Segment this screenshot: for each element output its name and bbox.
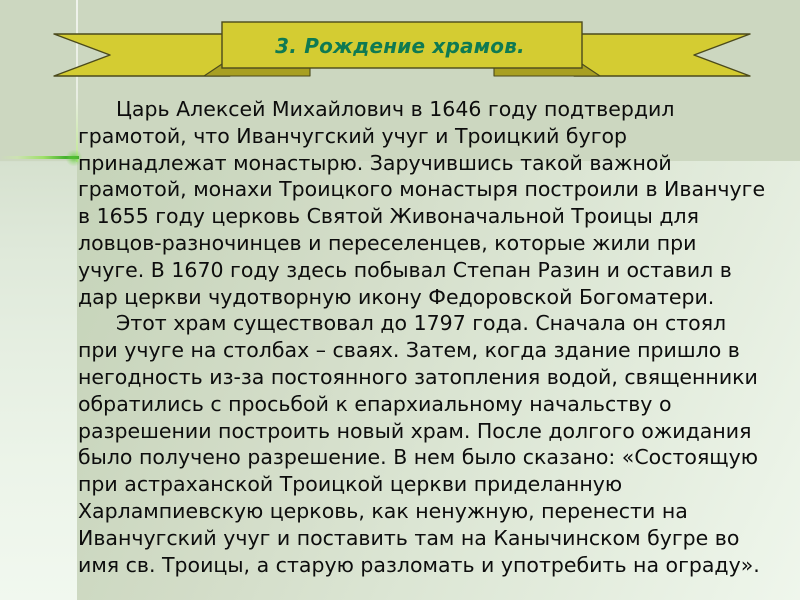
body-paragraph-2: Этот храм существовал до 1797 года. Снач… bbox=[78, 310, 768, 578]
presentation-slide: 3. Рождение храмов. Царь Алексей Михайло… bbox=[0, 0, 800, 600]
slide-body-text: Царь Алексей Михайлович в 1646 году подт… bbox=[78, 96, 768, 578]
ribbon-left-tail bbox=[54, 34, 230, 76]
ribbon-right-tail bbox=[574, 34, 750, 76]
body-paragraph-1: Царь Алексей Михайлович в 1646 году подт… bbox=[78, 96, 768, 310]
slide-title: 3. Рождение храмов. bbox=[222, 22, 578, 70]
